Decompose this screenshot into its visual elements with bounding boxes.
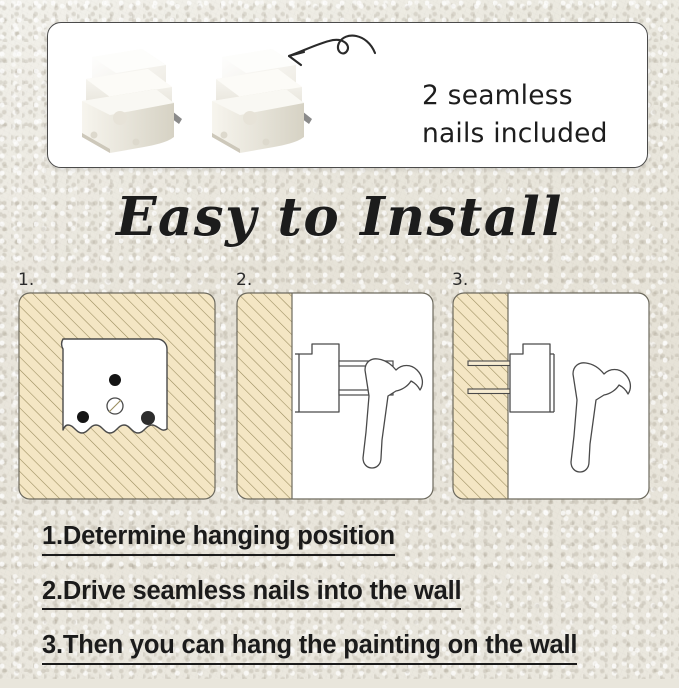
step-number-1: 1. — [18, 270, 34, 290]
nail-hole-left — [77, 411, 89, 423]
instruction-list: 1.Determine hanging position 2.Drive sea… — [42, 524, 642, 688]
instruction-item-3: 3.Then you can hang the painting on the … — [42, 633, 577, 665]
product-caption: 2 seamless nails included — [422, 77, 648, 152]
instruction-item-2: 2.Drive seamless nails into the wall — [42, 579, 461, 611]
step-figure-3 — [452, 292, 650, 500]
step-panel-3: 3. — [452, 270, 652, 502]
product-caption-line-1: 2 seamless — [422, 77, 648, 115]
page-title: Easy to Install — [0, 186, 679, 248]
step-figure-2 — [236, 292, 434, 500]
nail-clip-photo-2 — [200, 45, 332, 157]
wall-hatched-area-2 — [236, 292, 292, 500]
product-card: 2 seamless nails included — [47, 22, 648, 168]
nail-clip-side-outline-3 — [510, 344, 554, 412]
instruction-item-1: 1.Determine hanging position — [42, 524, 395, 556]
step-number-3: 3. — [452, 270, 468, 290]
nail-clip-photo-1 — [70, 45, 202, 157]
step-number-2: 2. — [236, 270, 252, 290]
nail-hole-top — [109, 374, 121, 386]
nail-clip-front-outline-1 — [62, 339, 167, 433]
step-panel-1: 1. — [18, 270, 218, 502]
nail-hole-right — [141, 411, 155, 425]
step-panel-2: 2. — [236, 270, 436, 502]
product-caption-line-2: nails included — [422, 115, 648, 153]
step-figure-1 — [18, 292, 216, 500]
wall-hatched-area-3 — [452, 292, 508, 500]
